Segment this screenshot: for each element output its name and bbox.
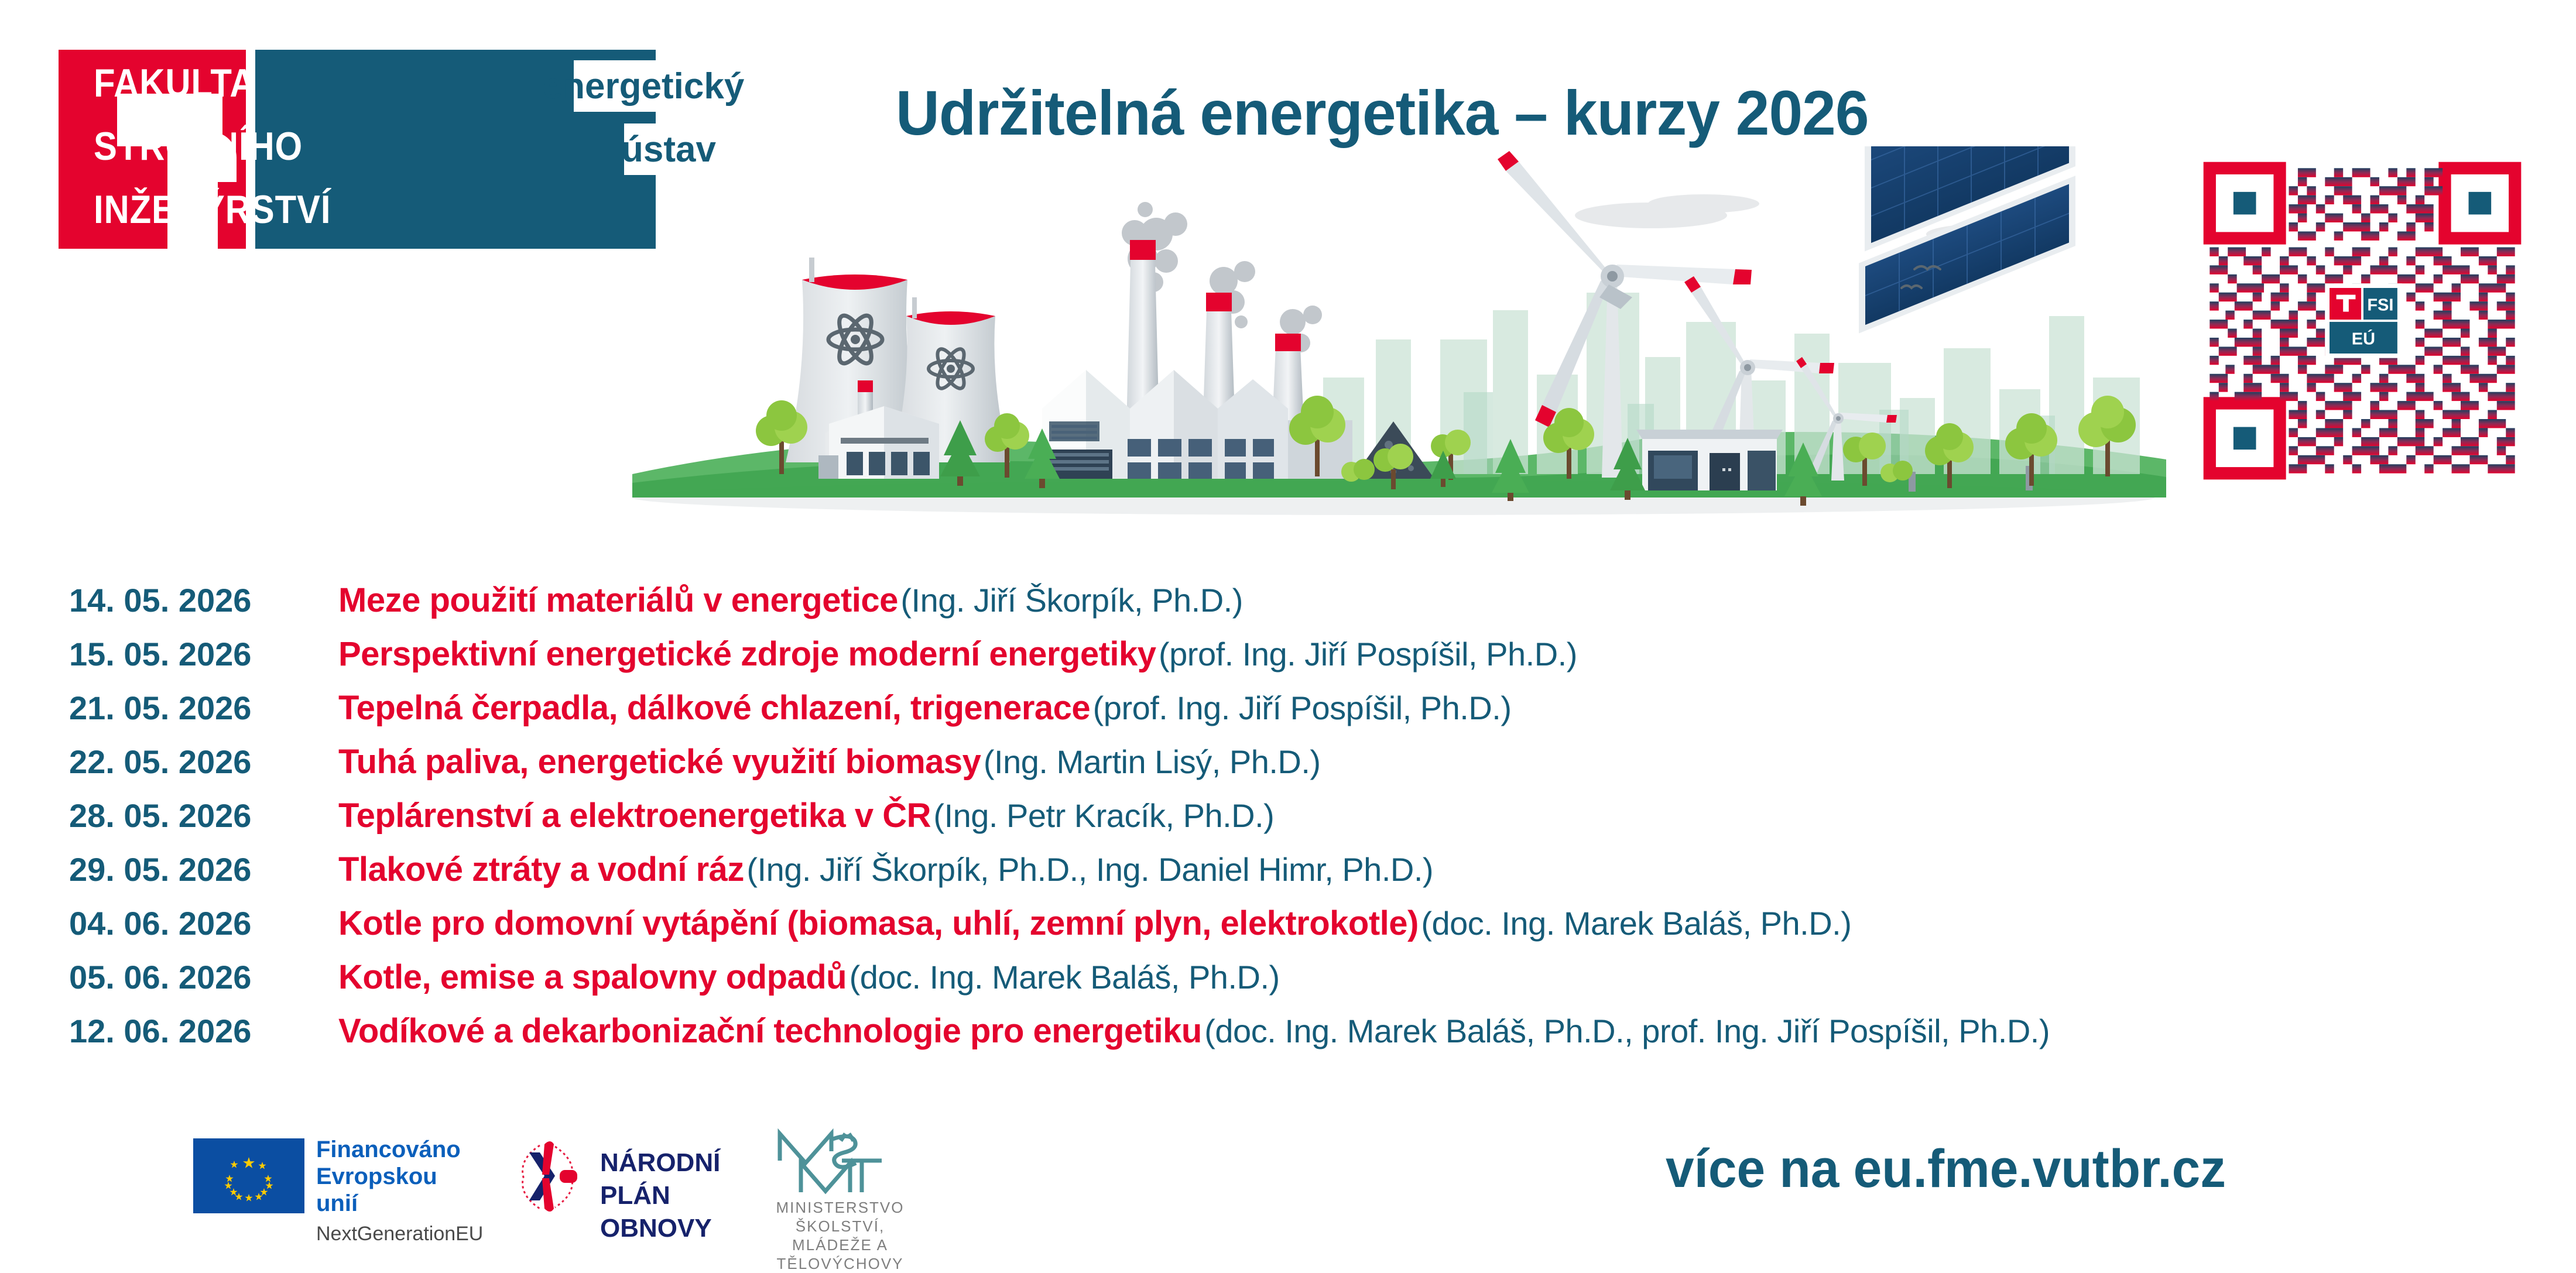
msmt-mark-icon — [767, 1127, 902, 1197]
fsi-logo: FAKULTA STROJNÍHO INŽENÝRSTVÍ energetick… — [59, 50, 656, 249]
course-date: 12. 06. 2026 — [69, 1004, 338, 1058]
course-lecturer: (doc. Ing. Marek Baláš, Ph.D.) — [1421, 905, 1851, 942]
course-title: Kotle, emise a spalovny odpadů — [338, 958, 847, 996]
msmt-text: MINISTERSTVO ŠKOLSTVÍ, MLÁDEŽE A TĚLOVÝC… — [744, 1198, 937, 1273]
course-date: 15. 05. 2026 — [69, 627, 338, 681]
svg-text:FSI: FSI — [2367, 296, 2393, 315]
course-lecturer: (doc. Ing. Marek Baláš, Ph.D., prof. Ing… — [1204, 1013, 2050, 1049]
qr-code[interactable]: FSI EÚ — [2198, 157, 2526, 485]
course-lecturer: (prof. Ing. Jiří Pospíšil, Ph.D.) — [1159, 636, 1577, 672]
logo-line-strojniho: STROJNÍHO — [94, 123, 303, 169]
course-row: 14. 05. 2026Meze použití materiálů v ene… — [69, 574, 2516, 627]
course-date: 21. 05. 2026 — [69, 681, 338, 735]
npo-line-1: NÁRODNÍ — [600, 1147, 720, 1179]
msmt-line-1: MINISTERSTVO ŠKOLSTVÍ, — [744, 1198, 937, 1236]
course-date: 29. 05. 2026 — [69, 843, 338, 897]
course-lecturer: (Ing. Martin Lisý, Ph.D.) — [984, 743, 1321, 780]
eu-nextgeneration-label: NextGenerationEU — [316, 1223, 483, 1245]
course-title: Vodíkové a dekarbonizační technologie pr… — [338, 1012, 1202, 1050]
course-lecturer: (Ing. Jiří Škorpík, Ph.D.) — [900, 582, 1243, 619]
npo-text: NÁRODNÍ PLÁN OBNOVY — [600, 1147, 720, 1245]
logo-chip-energeticky: energetický — [574, 60, 713, 112]
course-row: 15. 05. 2026Perspektivní energetické zdr… — [69, 627, 2516, 681]
course-title: Meze použití materiálů v energetice — [338, 581, 898, 619]
eu-funding-text: Financováno Evropskou unií NextGeneratio… — [316, 1136, 483, 1245]
course-title: Tuhá paliva, energetické využití biomasy — [338, 743, 981, 781]
course-row: 21. 05. 2026Tepelná čerpadla, dálkové ch… — [69, 681, 2516, 735]
course-date: 22. 05. 2026 — [69, 735, 338, 789]
svg-text:EÚ: EÚ — [2352, 329, 2375, 349]
course-date: 14. 05. 2026 — [69, 574, 338, 627]
course-row: 28. 05. 2026Teplárenství a elektroenerge… — [69, 789, 2516, 843]
course-date: 04. 06. 2026 — [69, 897, 338, 951]
course-row: 12. 06. 2026Vodíkové a dekarbonizační te… — [69, 1004, 2516, 1058]
more-info-url[interactable]: více na eu.fme.vutbr.cz — [1666, 1138, 2226, 1200]
msmt-line-2: MLÁDEŽE A TĚLOVÝCHOVY — [744, 1236, 937, 1273]
course-title: Kotle pro domovní vytápění (biomasa, uhl… — [338, 904, 1419, 942]
course-row: 04. 06. 2026Kotle pro domovní vytápění (… — [69, 897, 2516, 951]
course-date: 05. 06. 2026 — [69, 951, 338, 1004]
course-title: Teplárenství a elektroenergetika v ČR — [338, 797, 931, 835]
logo-line-inzenyrstvi: INŽENÝRSTVÍ — [94, 187, 331, 232]
course-title: Tepelná čerpadla, dálkové chlazení, trig… — [338, 689, 1090, 727]
course-row: 22. 05. 2026Tuhá paliva, energetické vyu… — [69, 735, 2516, 789]
course-title: Perspektivní energetické zdroje moderní … — [338, 635, 1156, 673]
course-row: 05. 06. 2026Kotle, emise a spalovny odpa… — [69, 951, 2516, 1004]
npo-mark-icon — [503, 1136, 591, 1218]
course-title: Tlakové ztráty a vodní ráz — [338, 850, 744, 888]
eu-line-2: Evropskou unií — [316, 1163, 483, 1217]
footer: Financováno Evropskou unií NextGeneratio… — [0, 1127, 2576, 1250]
course-list: 14. 05. 2026Meze použití materiálů v ene… — [69, 574, 2516, 1058]
energy-illustration — [632, 146, 2166, 515]
npo-line-2: PLÁN OBNOVY — [600, 1179, 720, 1245]
page-title: Udržitelná energetika – kurzy 2026 — [896, 76, 2121, 149]
course-row: 29. 05. 2026Tlakové ztráty a vodní ráz (… — [69, 843, 2516, 897]
eu-flag-icon — [193, 1138, 304, 1213]
course-lecturer: (prof. Ing. Jiří Pospíšil, Ph.D.) — [1093, 689, 1512, 726]
logo-line-fakulta: FAKULTA — [94, 60, 255, 106]
course-lecturer: (Ing. Jiří Škorpík, Ph.D., Ing. Daniel H… — [746, 851, 1433, 888]
course-date: 28. 05. 2026 — [69, 789, 338, 843]
eu-line-1: Financováno — [316, 1136, 483, 1163]
course-lecturer: (Ing. Petr Kracík, Ph.D.) — [933, 797, 1274, 834]
course-lecturer: (doc. Ing. Marek Baláš, Ph.D.) — [849, 959, 1280, 996]
